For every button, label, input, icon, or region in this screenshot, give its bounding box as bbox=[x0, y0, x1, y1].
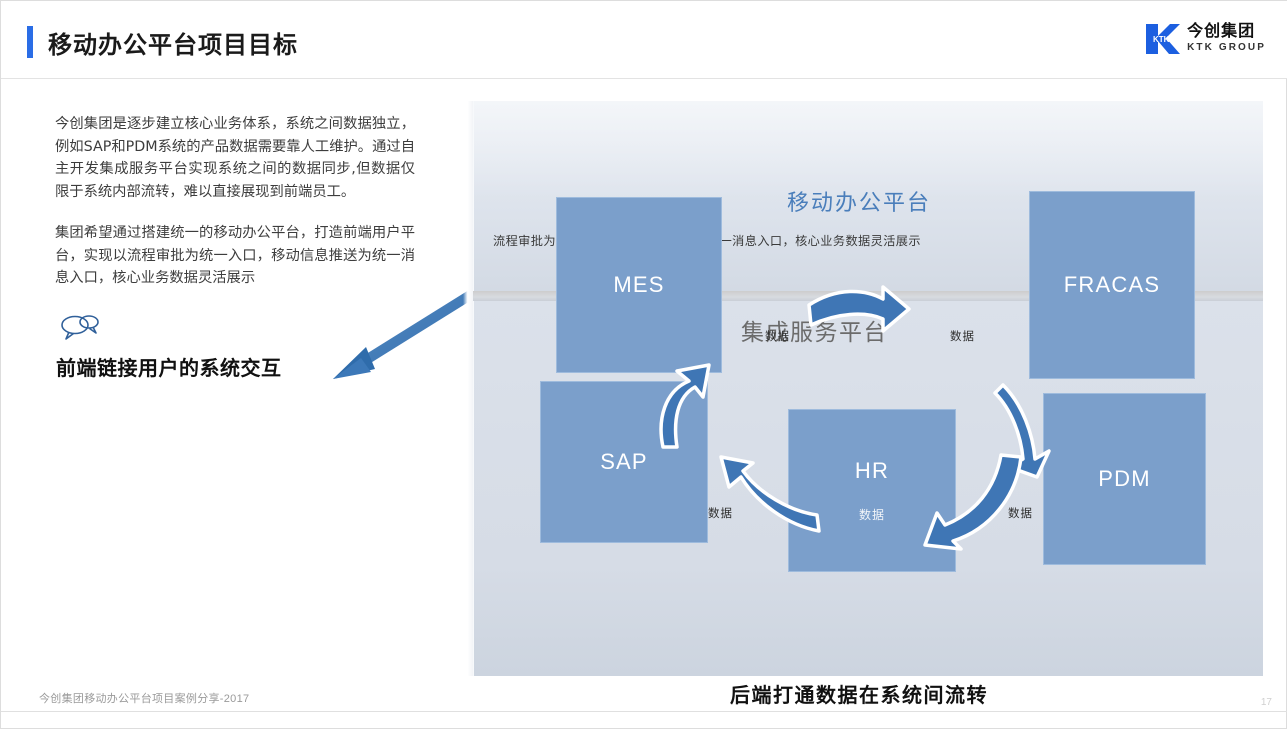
system-box-label: SAP bbox=[600, 449, 648, 475]
page-title: 移动办公平台项目目标 bbox=[48, 25, 298, 60]
architecture-diagram: 移动办公平台 流程审批为统一入口，移动信息推送为统一消息入口，核心业务数据灵活展… bbox=[463, 101, 1263, 676]
system-box-label: PDM bbox=[1098, 466, 1151, 492]
system-box-sublabel: 数据 bbox=[859, 506, 885, 523]
logo-name-en: KTK GROUP bbox=[1187, 41, 1266, 54]
data-flow-label-bottom-left: 数据 bbox=[708, 505, 733, 521]
front-end-caption: 前端链接用户的系统交互 bbox=[56, 352, 282, 381]
page-number: 17 bbox=[1261, 697, 1272, 708]
slide-canvas: 移动办公平台项目目标 KTK 今创集团 KTK GROUP 今创集团是逐步建立核… bbox=[0, 0, 1287, 729]
system-box-pdm[interactable]: PDM bbox=[1043, 393, 1206, 565]
footer-divider bbox=[1, 711, 1287, 712]
logo-name-cn: 今创集团 bbox=[1187, 24, 1266, 41]
ktk-k-mark-icon: KTK bbox=[1144, 22, 1180, 56]
data-flow-label-bottom-right: 数据 bbox=[1008, 505, 1033, 521]
title-accent-bar bbox=[27, 26, 33, 58]
data-flow-label-top-left: 数据 bbox=[765, 328, 790, 344]
slide-header: 移动办公平台项目目标 KTK 今创集团 KTK GROUP bbox=[1, 1, 1287, 79]
back-end-caption: 后端打通数据在系统间流转 bbox=[463, 679, 1255, 708]
paragraph-1: 今创集团是逐步建立核心业务体系，系统之间数据独立，例如SAP和PDM系统的产品数… bbox=[55, 113, 415, 203]
svg-text:KTK: KTK bbox=[1153, 35, 1170, 44]
data-flow-label-top-right: 数据 bbox=[950, 328, 975, 344]
integration-platform-label: 集成服务平台 bbox=[741, 313, 888, 347]
system-box-fracas[interactable]: FRACAS bbox=[1029, 191, 1195, 379]
footer-text: 今创集团移动办公平台项目案例分享-2017 bbox=[39, 690, 249, 706]
system-box-label: MES bbox=[613, 272, 664, 298]
speech-bubbles-icon bbox=[59, 313, 103, 341]
system-box-label: FRACAS bbox=[1064, 272, 1160, 298]
logo-text-block: 今创集团 KTK GROUP bbox=[1187, 24, 1266, 54]
system-box-hr[interactable]: HR 数据 bbox=[788, 409, 956, 572]
system-box-sap[interactable]: SAP bbox=[540, 381, 708, 543]
ktk-logo: KTK 今创集团 KTK GROUP bbox=[1144, 17, 1266, 61]
system-box-label: HR bbox=[855, 458, 889, 484]
system-box-mes[interactable]: MES bbox=[556, 197, 722, 373]
